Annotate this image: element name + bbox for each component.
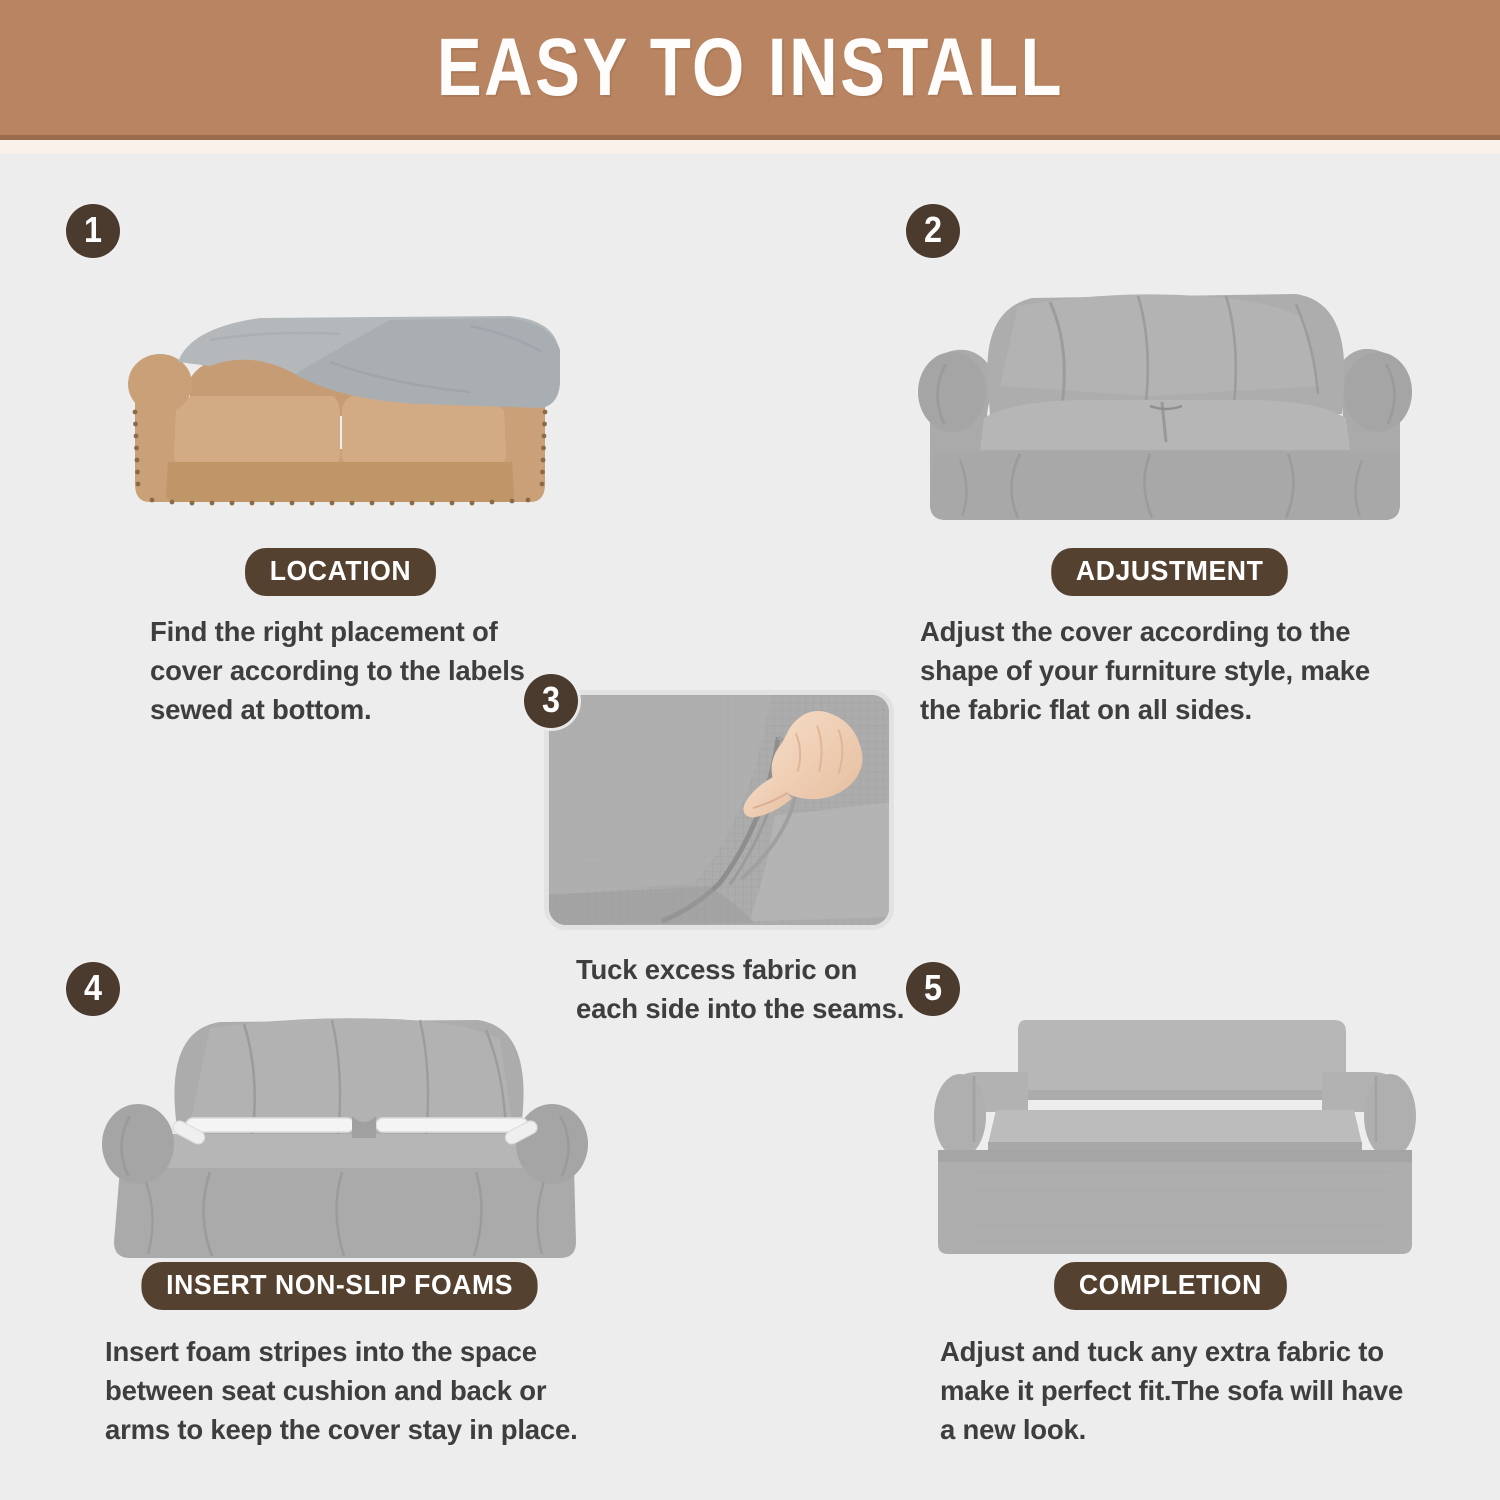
tan-sofa-with-cover-icon (90, 244, 590, 544)
step-1: 1 (60, 196, 620, 716)
infographic-page: EASY TO INSTALL 1 (0, 0, 1500, 1500)
step-number-4: 4 (84, 970, 102, 1006)
step-4-description: Insert foam stripes into the space betwe… (105, 1332, 585, 1449)
step-5-description: Adjust and tuck any extra fabric to make… (940, 1332, 1420, 1449)
step-2-description: Adjust the cover according to the shape … (920, 612, 1400, 729)
sofa-illustration-step-1 (90, 244, 590, 544)
step-1-description: Find the right placement of cover accord… (150, 612, 550, 729)
step-number-5: 5 (924, 970, 942, 1006)
step-1-pill-row: LOCATION (60, 548, 620, 596)
step-number-badge-4: 4 (66, 962, 120, 1016)
tuck-fabric-photo (544, 690, 894, 930)
step-4: 4 (60, 962, 620, 1462)
step-3: 3 (520, 672, 920, 1012)
step-label-completion: COMPLETION (1054, 1262, 1286, 1310)
step-3-description: Tuck excess fabric on each side into the… (576, 950, 906, 1028)
step-number-badge-1: 1 (66, 204, 120, 258)
header-banner: EASY TO INSTALL (0, 0, 1500, 140)
sofa-illustration-step-5 (910, 992, 1440, 1282)
step-number-1: 1 (84, 212, 102, 248)
step-number-badge-5: 5 (906, 962, 960, 1016)
sofa-illustration-step-4 (80, 992, 610, 1282)
step-label-adjustment: ADJUSTMENT (1052, 548, 1289, 596)
step-5: 5 (890, 962, 1450, 1462)
loose-gray-covered-sofa-icon (900, 236, 1430, 546)
step-4-pill-row: INSERT NON-SLIP FOAMS (60, 1262, 620, 1310)
step-5-pill-row: COMPLETION (890, 1262, 1450, 1310)
sofa-with-foam-stripes-icon (80, 992, 610, 1282)
step-2: 2 (890, 196, 1450, 716)
page-title: EASY TO INSTALL (436, 21, 1063, 115)
step-2-pill-row: ADJUSTMENT (890, 548, 1450, 596)
step-number-3: 3 (542, 682, 560, 718)
header-underline-strip (0, 140, 1500, 154)
step-label-location: LOCATION (245, 548, 436, 596)
step-number-2: 2 (924, 212, 942, 248)
hand-tucking-fabric-icon (549, 695, 889, 925)
step-label-insert-non-slip-foams: INSERT NON-SLIP FOAMS (142, 1262, 538, 1310)
step-number-badge-3: 3 (524, 674, 578, 728)
step-number-badge-2: 2 (906, 204, 960, 258)
fitted-gray-sofa-icon (910, 992, 1440, 1282)
sofa-illustration-step-2 (900, 236, 1430, 546)
